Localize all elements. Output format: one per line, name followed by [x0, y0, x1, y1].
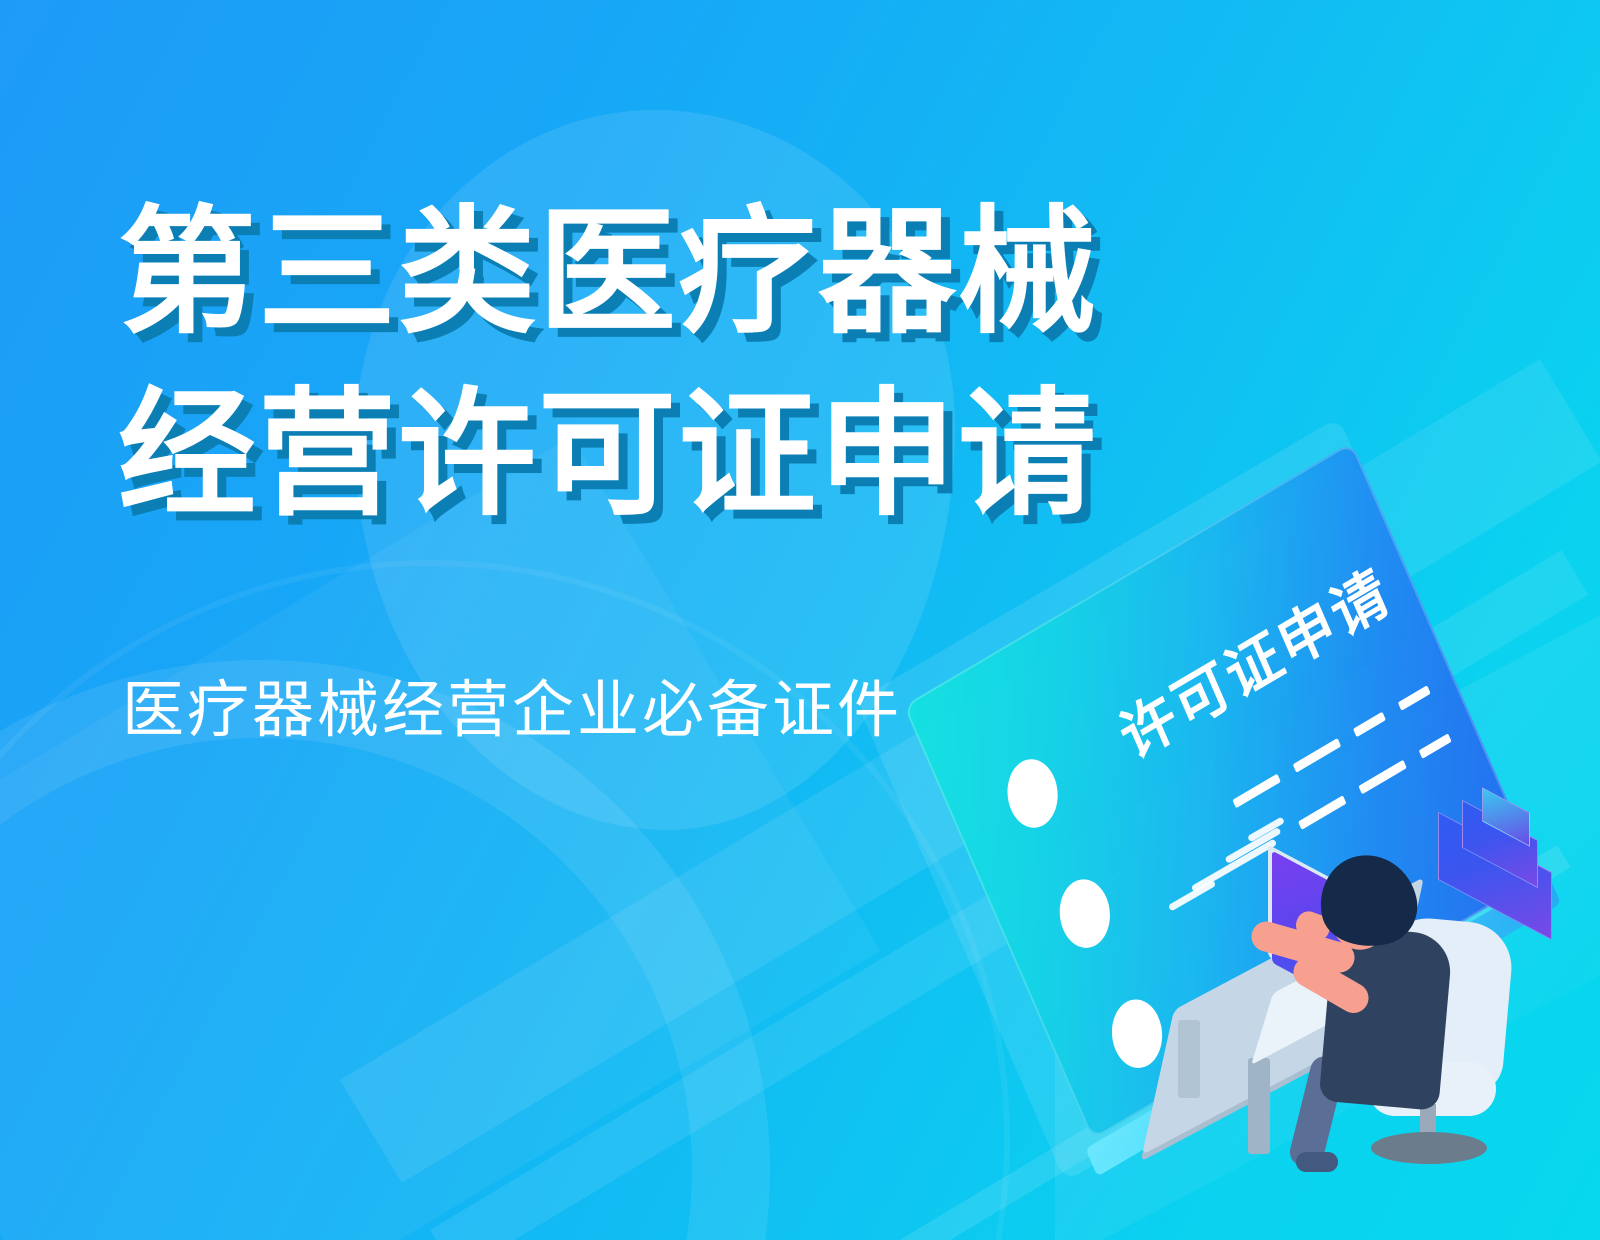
- stacked-boxes-icon: [1432, 782, 1600, 922]
- headline-line-2: 经营许可证申请: [118, 364, 1298, 546]
- poster-banner: 许可证申请: [0, 0, 1600, 1240]
- desk-leg: [1248, 1058, 1270, 1154]
- chair-foot: [1371, 1132, 1487, 1164]
- headline-line-1: 第三类医疗器械: [118, 182, 1298, 364]
- desk-leg: [1178, 1020, 1200, 1098]
- person-shoe: [1296, 1152, 1338, 1172]
- page-subtitle: 医疗器械经营企业必备证件: [122, 672, 902, 750]
- page-title: 第三类医疗器械 经营许可证申请: [118, 182, 1298, 546]
